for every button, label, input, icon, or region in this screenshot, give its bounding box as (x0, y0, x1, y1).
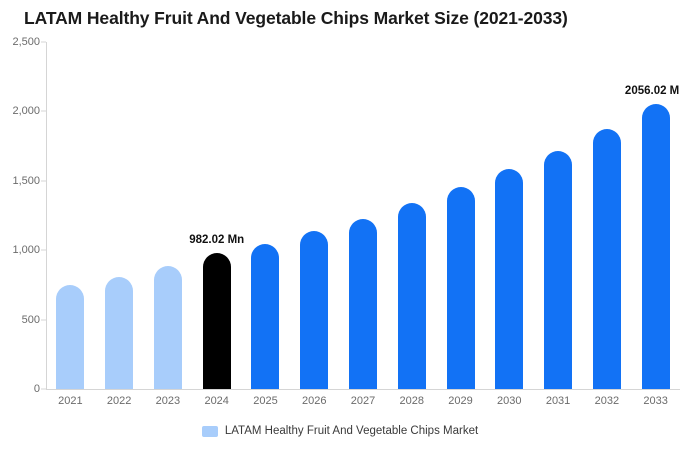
bar-2021[interactable] (56, 285, 84, 389)
y-axis-tick-mark (41, 389, 46, 390)
y-axis-tick-label: 0 (34, 383, 40, 395)
chart-title: LATAM Healthy Fruit And Vegetable Chips … (24, 8, 568, 29)
x-axis-tick-label: 2024 (204, 395, 228, 407)
bar-2032[interactable] (593, 129, 621, 389)
legend-swatch (202, 426, 218, 437)
bar-2025[interactable] (251, 244, 279, 389)
bar-2029[interactable] (447, 187, 475, 389)
x-axis-tick-label: 2025 (253, 395, 277, 407)
y-axis-tick-label: 1,500 (12, 175, 40, 187)
y-axis-tick-mark (41, 180, 46, 181)
y-axis-tick-mark (41, 250, 46, 251)
x-axis-tick-label: 2027 (351, 395, 375, 407)
x-axis-tick-label: 2023 (156, 395, 180, 407)
x-axis-tick-label: 2022 (107, 395, 131, 407)
y-axis-tick-mark (41, 319, 46, 320)
bar-2026[interactable] (300, 231, 328, 389)
bar-2031[interactable] (544, 151, 572, 389)
y-axis-tick-label: 2,000 (12, 105, 40, 117)
bar-2027[interactable] (349, 219, 377, 389)
bar-2024[interactable] (203, 253, 231, 389)
bar-2023[interactable] (154, 266, 182, 389)
chart-legend: LATAM Healthy Fruit And Vegetable Chips … (0, 425, 680, 437)
bar-2028[interactable] (398, 203, 426, 389)
bar-2033[interactable] (642, 104, 670, 389)
y-axis-tick-mark (41, 42, 46, 43)
bar-2030[interactable] (495, 169, 523, 389)
y-axis-tick-label: 500 (22, 314, 40, 326)
x-axis-tick-label: 2026 (302, 395, 326, 407)
x-axis-tick-label: 2031 (546, 395, 570, 407)
x-axis-tick-label: 2032 (595, 395, 619, 407)
legend-label: LATAM Healthy Fruit And Vegetable Chips … (225, 425, 478, 437)
bar-value-label-2024: 982.02 Mn (189, 234, 244, 246)
plot-area: 05001,0001,5002,0002,500982.02 Mn2056.02… (46, 42, 680, 389)
bar-value-label-2033: 2056.02 Mn (625, 85, 680, 97)
y-axis-tick-label: 1,000 (12, 244, 40, 256)
y-axis-tick-mark (41, 111, 46, 112)
chart-container: LATAM Healthy Fruit And Vegetable Chips … (0, 0, 680, 450)
x-axis-tick-label: 2029 (448, 395, 472, 407)
x-axis-tick-label: 2033 (643, 395, 667, 407)
x-axis-tick-label: 2028 (400, 395, 424, 407)
x-axis-tick-label: 2021 (58, 395, 82, 407)
x-axis-line (46, 389, 680, 390)
y-axis-tick-label: 2,500 (12, 36, 40, 48)
bar-2022[interactable] (105, 277, 133, 389)
x-axis-tick-label: 2030 (497, 395, 521, 407)
